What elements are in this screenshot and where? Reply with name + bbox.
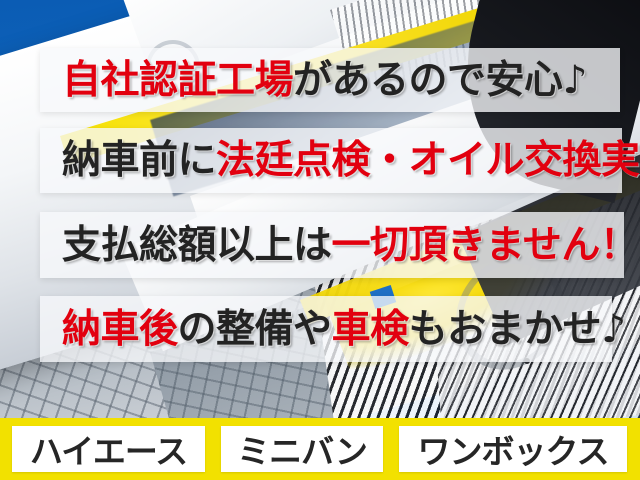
category-chip-hiace-label: ハイエース	[30, 425, 187, 473]
message-band-3: 支払総額以上は一切頂きません！	[40, 212, 624, 278]
band-4-segment-6: もおまかせ♪	[409, 307, 626, 352]
band-4-segment-4: や	[293, 307, 332, 352]
band-2-segment-1: 納車前に	[62, 138, 216, 183]
category-footer-bar: ハイエース ミニバン ワンボックス	[0, 418, 640, 480]
band-4-segment-1: 納車後	[62, 307, 178, 352]
category-chip-minivan[interactable]: ミニバン	[221, 426, 383, 472]
band-1-segment-1: 自社認証工場	[62, 58, 293, 103]
message-band-2: 納車前に法廷点検・オイル交換実施	[40, 128, 622, 193]
promo-banner: 自社認証工場があるので安心♪ 納車前に法廷点検・オイル交換実施 支払総額以上は一…	[0, 0, 640, 480]
category-chip-minivan-label: ミニバン	[237, 425, 367, 473]
message-band-4: 納車後の整備や車検もおまかせ♪	[40, 296, 612, 362]
category-chip-onebox[interactable]: ワンボックス	[399, 426, 627, 472]
band-1-segment-2: があるので安心♪	[293, 58, 587, 103]
category-chip-onebox-label: ワンボックス	[417, 425, 608, 473]
band-3-segment-2: 一切頂きません！	[332, 223, 639, 268]
band-4-segment-2: の	[178, 307, 217, 352]
band-2-segment-2: 法廷点検・オイル交換実施	[216, 138, 640, 183]
band-4-segment-3: 整備	[216, 307, 293, 352]
band-3-segment-1: 支払総額以上は	[62, 223, 332, 268]
message-band-1: 自社認証工場があるので安心♪	[40, 48, 620, 112]
category-chip-hiace[interactable]: ハイエース	[12, 426, 205, 472]
band-4-segment-5: 車検	[332, 307, 409, 352]
